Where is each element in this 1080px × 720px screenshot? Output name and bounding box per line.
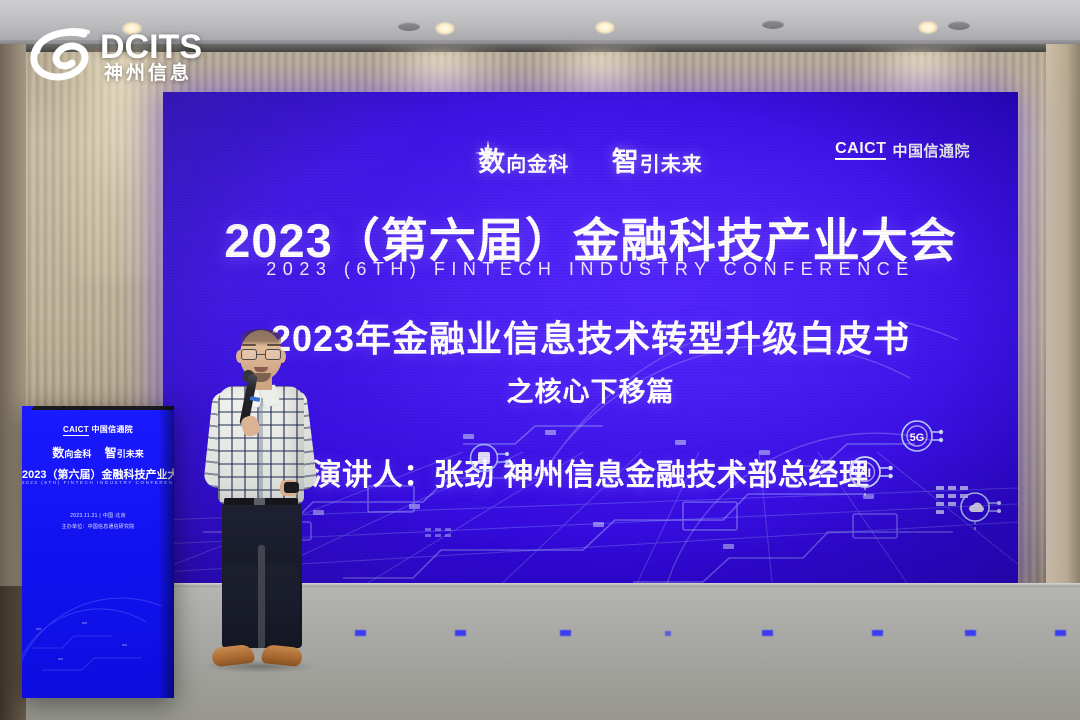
- podium-host-organization: 主办单位：中国信息通信研究院: [22, 523, 174, 530]
- glasses-lens-right: [265, 349, 281, 360]
- podium-date-location: 2023.11.21 | 中国·北京: [22, 512, 174, 519]
- speaker-shirt-placket: [258, 392, 263, 500]
- floor-reflection: [872, 630, 883, 636]
- podium-side-shading: [158, 406, 174, 698]
- caict-logo: CAICT 中国信通院: [835, 140, 970, 161]
- podium: CAICT 中国信通院 数向金科 智引未来 2023（第六届）金融科技产业大会 …: [22, 406, 174, 698]
- tagline-word-2: 引未来: [640, 154, 703, 176]
- ceiling-downlight: [918, 21, 938, 34]
- caict-mark-text: CAICT: [835, 141, 886, 160]
- podium-surface: [32, 406, 174, 410]
- podium-conference-subtitle: 2023 (6TH) FINTECH INDUSTRY CONFERENCE: [22, 480, 174, 485]
- glasses-lens-left: [241, 349, 257, 360]
- floor-reflection: [355, 630, 366, 636]
- podium-caict-logo: CAICT 中国信通院: [22, 424, 174, 435]
- podium-tagline-char-2: 智: [105, 446, 117, 460]
- speaker-belt-buckle: [254, 498, 265, 505]
- ceiling-downlight: [122, 22, 142, 35]
- glasses-bridge: [257, 354, 265, 355]
- podium-caict-cn: 中国信通院: [91, 425, 133, 434]
- ceiling-vent: [398, 22, 420, 31]
- podium-tagline: 数向金科 智引未来: [22, 444, 174, 461]
- podium-tagline-word-1: 向金科: [64, 449, 91, 459]
- floor-reflection: [560, 630, 571, 636]
- podium-tagline-char-1: 数: [52, 446, 64, 460]
- floor-reflection: [965, 630, 976, 636]
- podium-circuit-decoration: [22, 588, 174, 698]
- caict-cn-text: 中国信通院: [892, 140, 970, 161]
- floor-reflection: [455, 630, 466, 636]
- glasses-icon: [241, 349, 281, 360]
- speaker-leg-gap: [258, 545, 265, 649]
- tagline-char-2: 智: [612, 147, 640, 177]
- ceiling-vent: [762, 20, 784, 29]
- speaker-left-leg: [223, 566, 258, 652]
- speaker-person: [196, 330, 322, 682]
- floor-reflection: [1055, 630, 1066, 636]
- presentation-clicker: [284, 482, 299, 493]
- tagline-char-1: 数: [478, 147, 506, 177]
- ceiling-vent: [948, 21, 970, 30]
- svg-text:5G: 5G: [910, 432, 925, 444]
- ceiling-downlight: [435, 22, 455, 35]
- tagline-word-1: 向金科: [506, 154, 569, 176]
- curtain-light-glow: [60, 50, 180, 280]
- speaker-right-shoe: [261, 644, 303, 667]
- ceiling: [0, 0, 1080, 44]
- conference-stage-scene: 数向金科 智引未来 CAICT 中国信通院 2023（第六届）金融科技产业大会 …: [0, 0, 1080, 720]
- floor-reflection: [665, 631, 671, 636]
- speaker-eyebrow-left: [242, 344, 256, 346]
- conference-subtitle: 2023 (6TH) FINTECH INDUSTRY CONFERENCE: [163, 259, 1018, 280]
- speaker-eyebrow-right: [267, 344, 281, 346]
- podium-caict-mark: CAICT: [63, 425, 89, 436]
- floor-reflection: [762, 630, 773, 636]
- speaker-right-leg: [264, 566, 299, 652]
- ceiling-downlight: [595, 21, 615, 34]
- podium-tagline-word-2: 引未来: [117, 449, 144, 459]
